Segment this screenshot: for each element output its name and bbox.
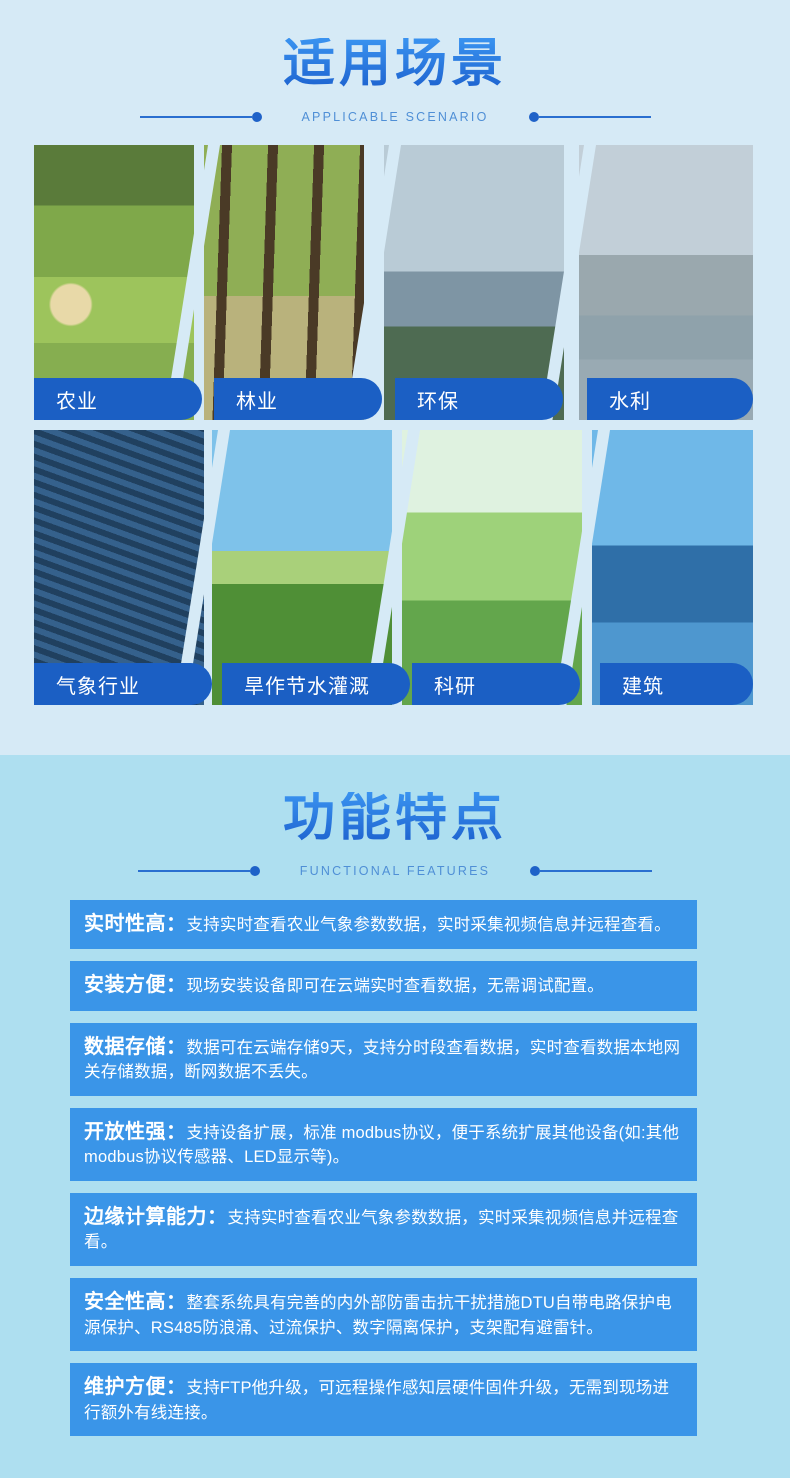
scenario-row-1: 农业 林业 环保 水利 (34, 145, 753, 420)
decoration-line-icon (138, 870, 250, 872)
section-title-cn-2: 功能特点 (283, 792, 507, 844)
functional-features-heading: 功能特点 FUNCTIONAL FEATURES (0, 792, 790, 884)
feature-text: 支持实时查看农业气象参数数据，实时采集视频信息并远程查看。 (187, 916, 671, 934)
feature-title: 维护方便： (84, 1376, 187, 1398)
section-title-en-2: FUNCTIONAL FEATURES (284, 864, 506, 878)
scenario-label-water: 水利 (587, 378, 753, 420)
scenario-label-meteorology: 气象行业 (34, 663, 212, 705)
scenario-label-text: 旱作节水灌溉 (244, 670, 370, 699)
feature-item: 数据存储：数据可在云端存储9天，支持分时段查看数据，实时查看数据本地网关存储数据… (70, 1023, 697, 1096)
section-subtitle-row-1: APPLICABLE SCENARIO (0, 104, 790, 130)
feature-item: 开放性强：支持设备扩展，标准 modbus协议，便于系统扩展其他设备(如:其他m… (70, 1108, 697, 1181)
feature-item: 安全性高：整套系统具有完善的内外部防雷击抗干扰措施DTU自带电路保护电源保护、R… (70, 1278, 697, 1351)
decoration-left-2 (138, 866, 260, 876)
promo-page: 适用场景 APPLICABLE SCENARIO (0, 0, 790, 1478)
decoration-right-2 (530, 866, 652, 876)
scenario-label-text: 科研 (434, 670, 476, 699)
feature-title: 实时性高： (84, 913, 187, 935)
scenario-label-environment: 环保 (395, 378, 563, 420)
feature-item: 安装方便：现场安装设备即可在云端实时查看数据，无需调试配置。 (70, 961, 697, 1010)
feature-item: 实时性高：支持实时查看农业气象参数数据，实时采集视频信息并远程查看。 (70, 900, 697, 949)
feature-item: 边缘计算能力：支持实时查看农业气象参数数据，实时采集视频信息并远程查看。 (70, 1193, 697, 1266)
decoration-line-icon (540, 870, 652, 872)
feature-text: 现场安装设备即可在云端实时查看数据，无需调试配置。 (187, 977, 605, 995)
feature-title: 安装方便： (84, 974, 187, 996)
decoration-dot-icon (252, 112, 262, 122)
scenario-label-agriculture: 农业 (34, 378, 202, 420)
scenario-grid: 农业 林业 环保 水利 (34, 145, 753, 705)
scenario-row-2: 气象行业 旱作节水灌溉 科研 建筑 (34, 430, 753, 705)
decoration-left-1 (140, 112, 262, 122)
feature-title: 开放性强： (84, 1121, 187, 1143)
scenario-label-text: 林业 (236, 385, 278, 414)
feature-item: 维护方便：支持FTP他升级，可远程操作感知层硬件固件升级，无需到现场进行额外有线… (70, 1363, 697, 1436)
feature-list: 实时性高：支持实时查看农业气象参数数据，实时采集视频信息并远程查看。 安装方便：… (70, 900, 697, 1448)
scenario-label-research: 科研 (412, 663, 580, 705)
scenario-label-text: 环保 (417, 385, 459, 414)
feature-title: 安全性高： (84, 1291, 187, 1313)
scenario-label-text: 气象行业 (56, 670, 140, 699)
scenario-label-forestry: 林业 (214, 378, 382, 420)
decoration-line-icon (539, 116, 651, 118)
decoration-dot-icon (530, 866, 540, 876)
feature-title: 边缘计算能力： (84, 1206, 228, 1228)
scenario-label-text: 水利 (609, 385, 651, 414)
scenario-label-irrigation: 旱作节水灌溉 (222, 663, 410, 705)
section-subtitle-row-2: FUNCTIONAL FEATURES (0, 858, 790, 884)
scenario-label-text: 农业 (56, 385, 98, 414)
applicable-scenario-heading: 适用场景 APPLICABLE SCENARIO (0, 38, 790, 130)
scenario-label-text: 建筑 (622, 670, 664, 699)
decoration-line-icon (140, 116, 252, 118)
section-title-en-1: APPLICABLE SCENARIO (286, 110, 505, 124)
decoration-dot-icon (529, 112, 539, 122)
scenario-label-construction: 建筑 (600, 663, 753, 705)
feature-title: 数据存储： (84, 1036, 187, 1058)
decoration-dot-icon (250, 866, 260, 876)
decoration-right-1 (529, 112, 651, 122)
section-title-cn-1: 适用场景 (283, 38, 507, 90)
